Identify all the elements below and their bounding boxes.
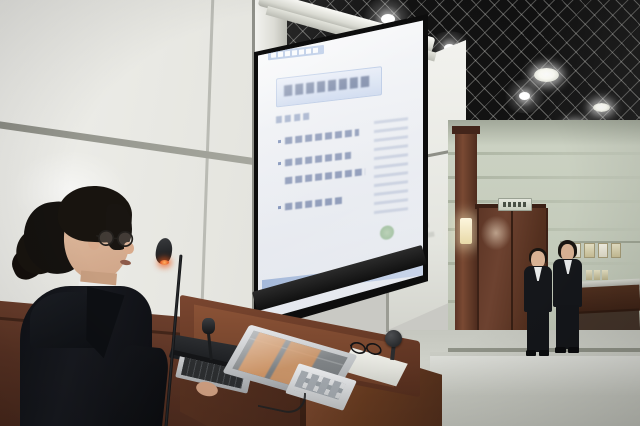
table-items <box>586 270 612 280</box>
exit-sign <box>498 198 532 211</box>
eyeglasses-icon <box>95 228 137 251</box>
shoe <box>526 350 536 356</box>
table-item <box>602 270 608 280</box>
recessed-spotlight-icon <box>519 92 530 100</box>
plaque <box>598 243 608 258</box>
microphone-stem <box>164 255 183 426</box>
presenter <box>14 176 214 426</box>
trousers <box>527 310 549 352</box>
microphone-indicator-light <box>160 260 169 265</box>
plaque <box>584 243 594 258</box>
shoe <box>568 347 579 353</box>
ceiling-downlight-icon <box>534 68 559 82</box>
wood-pillar-cap <box>452 126 480 134</box>
door-highlight <box>481 216 511 250</box>
floor-reflection <box>430 356 640 396</box>
trousers <box>556 305 579 349</box>
ceiling-downlight-icon <box>593 103 610 112</box>
plaque <box>611 243 621 258</box>
shoe <box>555 347 566 353</box>
shoe <box>539 350 549 356</box>
table-item <box>594 270 600 280</box>
table-item <box>586 270 592 280</box>
lecture-hall-photo <box>0 0 640 426</box>
desk-camera-icon <box>385 330 402 347</box>
exit-sign-text <box>503 202 527 207</box>
wall-plaques <box>571 243 621 256</box>
wall-sconce-light <box>460 218 472 244</box>
